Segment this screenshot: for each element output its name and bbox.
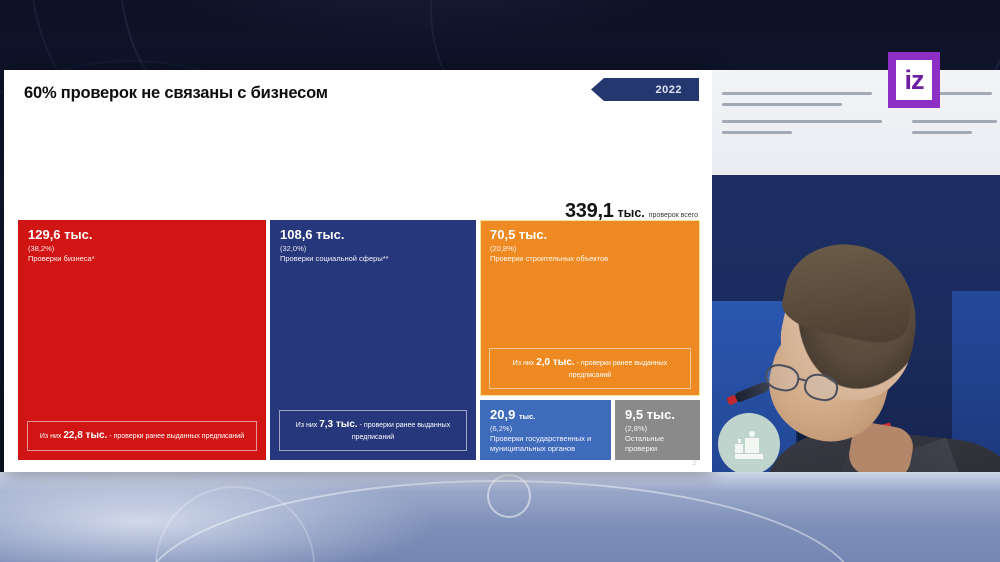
tile-caption: Остальные проверки (625, 434, 692, 454)
tile-caption: Проверки бизнеса* (28, 254, 258, 264)
slide-title: 60% проверок не связаны с бизнесом (24, 84, 328, 103)
screen-text-line (912, 131, 972, 134)
screen-text-line (912, 120, 997, 123)
subnote-prefix: Из них (40, 433, 61, 440)
subnote-prefix: Из них (513, 360, 534, 367)
screen-text-line (722, 103, 842, 106)
year-badge: 2022 (591, 78, 699, 101)
tile-value: 129,6 тыс. (28, 228, 258, 242)
year-badge-label: 2022 (656, 84, 699, 96)
treemap-tile-social: 108,6 тыс. (32,0%) Проверки социальной с… (270, 220, 476, 460)
projection-screen (712, 70, 1000, 188)
tile-percent: (2,8%) (625, 424, 692, 433)
tile-caption: Проверки строительных объектов (490, 254, 692, 264)
tile-percent: (32,0%) (280, 244, 468, 253)
subnote-suffix: - проверки ранее выданных предписаний (109, 433, 244, 440)
treemap-tile-construction: 70,5 тыс. (20,8%) Проверки строительных … (480, 220, 700, 396)
subnote-value: 2,0 тыс. (536, 357, 574, 368)
tile-subnote: Из них 2,0 тыс. - проверки ранее выданны… (489, 348, 691, 389)
channel-logo-text: iz (896, 60, 932, 100)
subnote-value: 22,8 тыс. (63, 430, 107, 441)
broadcast-frame: 60% проверок не связаны с бизнесом 2022 … (0, 0, 1000, 562)
tile-value: 9,5 тыс. (625, 408, 692, 422)
subnote-suffix: - проверки ранее выданных предписаний (352, 422, 450, 441)
presentation-slide: 60% проверок не связаны с бизнесом 2022 … (4, 70, 712, 472)
tile-value: 20,9 тыс. (490, 408, 603, 422)
screen-text-line (722, 120, 882, 123)
tile-percent: (38,2%) (28, 244, 258, 253)
tile-caption: Проверки социальной сферы** (280, 254, 468, 264)
video-feed (712, 70, 1000, 472)
slide-page-number: 2 (693, 461, 696, 467)
total-unit: тыс. (618, 206, 645, 220)
tile-caption: Проверки государственных и муниципальных… (490, 434, 603, 454)
tile-percent: (20,8%) (490, 244, 692, 253)
stage-backdrop (712, 175, 1000, 472)
treemap-tile-government: 20,9 тыс. (6,2%) Проверки государственны… (480, 400, 611, 460)
treemap-chart: 129,6 тыс. (38,2%) Проверки бизнеса* Из … (18, 220, 700, 460)
tile-subnote: Из них 22,8 тыс. - проверки ранее выданн… (27, 421, 257, 452)
subnote-value: 7,3 тыс. (319, 419, 357, 430)
treemap-tile-business: 129,6 тыс. (38,2%) Проверки бизнеса* Из … (18, 220, 266, 460)
event-logo-icon (734, 429, 764, 459)
background-bottom (0, 472, 1000, 562)
total-label: проверок всего (649, 212, 698, 219)
background-reflection-arc (487, 474, 531, 518)
channel-logo: iz (888, 52, 940, 108)
tile-subnote: Из них 7,3 тыс. - проверки ранее выданны… (279, 410, 467, 451)
tile-value: 108,6 тыс. (280, 228, 468, 242)
screen-text-line (722, 92, 872, 95)
tile-value-unit: тыс. (519, 412, 535, 421)
tile-value: 70,5 тыс. (490, 228, 692, 242)
subnote-suffix: - проверки ранее выданных предписаний (569, 360, 667, 379)
subnote-prefix: Из них (296, 422, 317, 429)
screen-text-line (722, 131, 792, 134)
tile-percent: (6,2%) (490, 424, 603, 433)
treemap-tile-other: 9,5 тыс. (2,8%) Остальные проверки (615, 400, 700, 460)
